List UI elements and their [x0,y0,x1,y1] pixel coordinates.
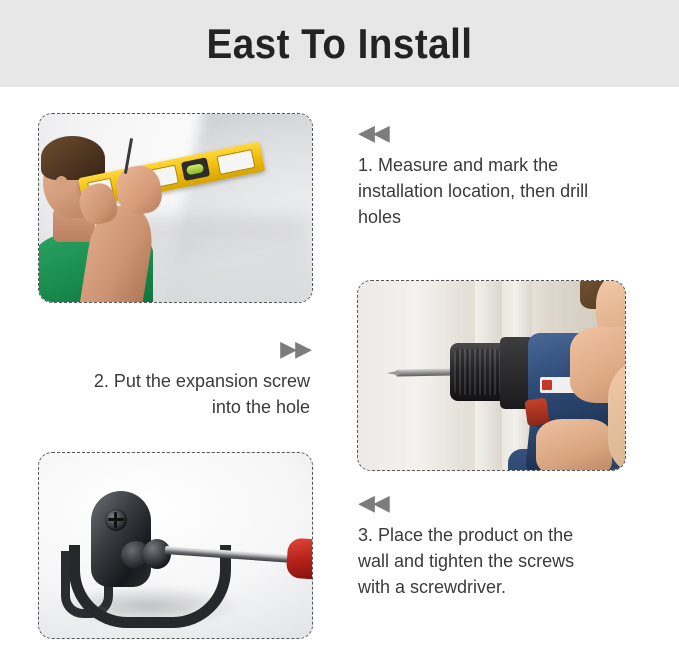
drill-chuck [450,343,506,401]
level-window-3 [216,149,255,175]
instruction-step-2: ▶▶ 2. Put the expansion screw into the h… [62,338,310,420]
drill-bit [396,368,454,376]
page-title: East To Install [27,0,652,87]
double-chevron-left-icon: ◀◀ [358,122,658,144]
left-hand [536,419,612,470]
instruction-step-1-text: 1. Measure and mark the installation loc… [358,155,588,227]
hook-backplate [91,491,151,587]
photo-measure-scene [39,114,312,302]
photo-hook-scene [39,453,312,638]
hair [41,136,105,180]
screwdriver-handle [286,538,312,581]
photo-drill-scene [358,281,625,470]
ear [55,176,68,192]
photo-measure-and-mark [38,113,313,303]
header-band: East To Install [0,0,679,87]
photo-mount-hook [38,452,313,639]
instruction-step-3: ◀◀ 3. Place the product on the wall and … [358,492,658,600]
instruction-step-3-text: 3. Place the product on the wall and tig… [358,525,574,597]
instruction-step-1: ◀◀ 1. Measure and mark the installation … [358,122,658,230]
double-chevron-right-icon: ▶▶ [62,338,310,360]
double-chevron-left-icon: ◀◀ [358,492,658,514]
instruction-step-2-text: 2. Put the expansion screw into the hole [94,371,310,417]
level-bubble-vial [181,157,210,181]
photo-drill-hole [357,280,626,471]
top-screw [105,509,127,531]
